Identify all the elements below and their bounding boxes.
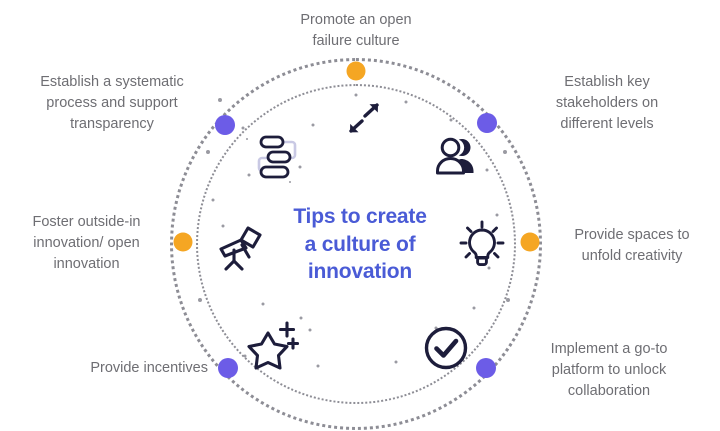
label-line: unfold creativity [552, 246, 712, 267]
label-line: platform to unlock [514, 360, 704, 381]
label-line: Promote an open [265, 10, 447, 31]
label-line: failure culture [265, 31, 447, 52]
decorative-speck [262, 303, 265, 306]
infographic-canvas: Tips to create a culture of innovation [0, 0, 720, 431]
node-dot-provide-spaces-unfold-creativity[interactable] [521, 233, 540, 252]
decorative-speck [395, 361, 398, 364]
decorative-speck [242, 127, 245, 130]
flowchart-icon [248, 131, 306, 185]
label-line: stakeholders on [512, 93, 702, 114]
decorative-speck [317, 365, 320, 368]
label-line: Establish a systematic [12, 72, 212, 93]
label-foster-outside-in-innovation: Foster outside-in innovation/ open innov… [4, 212, 169, 275]
label-establish-systematic-process: Establish a systematic process and suppo… [12, 72, 212, 135]
decorative-speck [309, 329, 312, 332]
label-implement-go-to-platform: Implement a go-to platform to unlock col… [514, 339, 704, 402]
decorative-speck [506, 298, 510, 302]
label-line: process and support [12, 93, 212, 114]
star-sparkle-icon [245, 318, 307, 376]
label-line: innovation [4, 254, 169, 275]
decorative-speck [218, 98, 222, 102]
decorative-speck [450, 119, 453, 122]
center-title-line-1: Tips to create [260, 203, 460, 231]
decorative-speck [312, 124, 315, 127]
label-line: innovation/ open [4, 233, 169, 254]
node-dot-provide-incentives[interactable] [218, 358, 238, 378]
label-promote-open-failure-culture: Promote an open failure culture [265, 10, 447, 52]
lightbulb-icon [453, 216, 511, 274]
label-line: Provide incentives [40, 358, 208, 379]
decorative-speck [198, 298, 202, 302]
label-line: Foster outside-in [4, 212, 169, 233]
expand-arrows-icon [341, 97, 387, 141]
label-provide-incentives: Provide incentives [40, 358, 208, 379]
label-provide-spaces-unfold-creativity: Provide spaces to unfold creativity [552, 225, 712, 267]
node-dot-foster-outside-in-innovation[interactable] [174, 233, 193, 252]
decorative-speck [206, 150, 210, 154]
decorative-speck [503, 150, 507, 154]
label-line: Implement a go-to [514, 339, 704, 360]
label-line: different levels [512, 114, 702, 135]
center-title-line-2: a culture of [260, 231, 460, 259]
decorative-speck [405, 101, 408, 104]
label-line: Provide spaces to [552, 225, 712, 246]
node-dot-promote-open-failure-culture[interactable] [347, 62, 366, 81]
label-line: transparency [12, 114, 212, 135]
label-line: Establish key [512, 72, 702, 93]
telescope-icon [209, 219, 271, 277]
decorative-speck [212, 199, 215, 202]
label-establish-key-stakeholders: Establish key stakeholders on different … [512, 72, 702, 135]
node-dot-establish-systematic-process[interactable] [215, 115, 235, 135]
label-line: collaboration [514, 381, 704, 402]
decorative-speck [473, 307, 476, 310]
node-dot-implement-go-to-platform[interactable] [476, 358, 496, 378]
center-title-line-3: innovation [260, 258, 460, 286]
check-circle-icon [419, 321, 473, 375]
center-title: Tips to create a culture of innovation [260, 203, 460, 286]
users-icon [428, 129, 486, 181]
